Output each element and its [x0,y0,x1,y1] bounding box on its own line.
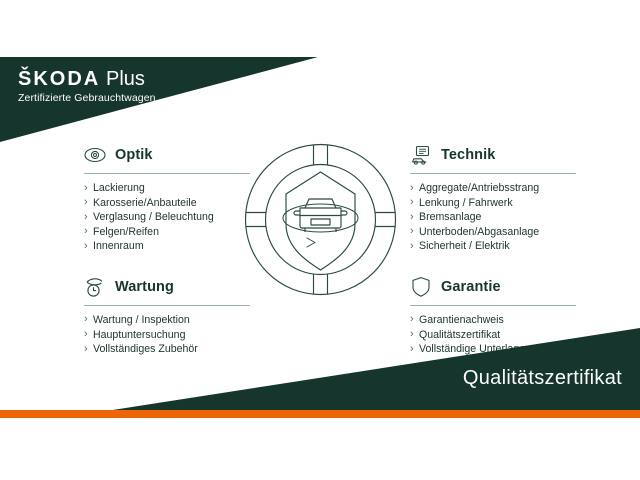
block-technik: Technik Aggregate/Antriebsstrang Lenkung… [410,142,576,254]
orange-accent-bar [0,410,640,418]
list-item: Vollständige Unterlagen [410,342,576,357]
certificate-slide: ŠKODA Plus Zertifizierte Gebrauchtwagen … [0,0,640,480]
block-wartung-list: Wartung / Inspektion Hauptuntersuchung V… [84,313,250,357]
eye-icon [84,144,108,166]
list-item: Qualitätszertifikat [410,328,576,343]
car-technik-icon [410,144,434,166]
block-wartung-title: Wartung [115,279,174,295]
list-item: Innenraum [84,239,250,254]
list-item: Bremsanlage [410,210,576,225]
list-item: Felgen/Reifen [84,225,250,240]
list-item: Lackierung [84,181,250,196]
block-garantie-list: Garantienachweis Qualitätszertifikat Vol… [410,313,576,357]
shield-car-certification-emblem [243,142,398,297]
block-garantie: Garantie Garantienachweis Qualitätszerti… [410,274,576,357]
list-item: Vollständiges Zubehör [84,342,250,357]
block-optik: Optik Lackierung Karosserie/Anbauteile V… [84,142,250,254]
shield-icon [410,276,434,298]
divider [84,305,250,306]
divider [410,305,576,306]
block-optik-title: Optik [115,147,153,163]
left-column: Optik Lackierung Karosserie/Anbauteile V… [84,142,250,357]
block-wartung: Wartung Wartung / Inspektion Hauptunters… [84,274,250,357]
list-item: Aggregate/Antriebsstrang [410,181,576,196]
list-item: Unterboden/Abgasanlage [410,225,576,240]
brand-plus-text: Plus [106,68,145,90]
list-item: Lenkung / Fahrwerk [410,196,576,211]
divider [84,173,250,174]
brand-wordmark: ŠKODA Plus [18,68,156,90]
maintenance-icon [84,276,108,298]
block-garantie-title: Garantie [441,279,501,295]
footer-caption: Qualitätszertifikat [463,366,622,390]
block-wartung-header: Wartung [84,274,250,300]
divider [410,173,576,174]
block-optik-header: Optik [84,142,250,168]
list-item: Karosserie/Anbauteile [84,196,250,211]
block-technik-list: Aggregate/Antriebsstrang Lenkung / Fahrw… [410,181,576,254]
brand-tagline: Zertifizierte Gebrauchtwagen [18,92,156,105]
list-item: Sicherheit / Elektrik [410,239,576,254]
block-technik-title: Technik [441,147,495,163]
block-technik-header: Technik [410,142,576,168]
block-optik-list: Lackierung Karosserie/Anbauteile Verglas… [84,181,250,254]
list-item: Wartung / Inspektion [84,313,250,328]
block-garantie-header: Garantie [410,274,576,300]
brand-lockup: ŠKODA Plus Zertifizierte Gebrauchtwagen [18,68,156,105]
list-item: Verglasung / Beleuchtung [84,210,250,225]
list-item: Garantienachweis [410,313,576,328]
right-column: Technik Aggregate/Antriebsstrang Lenkung… [410,142,576,357]
brand-skoda-text: ŠKODA [18,68,100,90]
list-item: Hauptuntersuchung [84,328,250,343]
